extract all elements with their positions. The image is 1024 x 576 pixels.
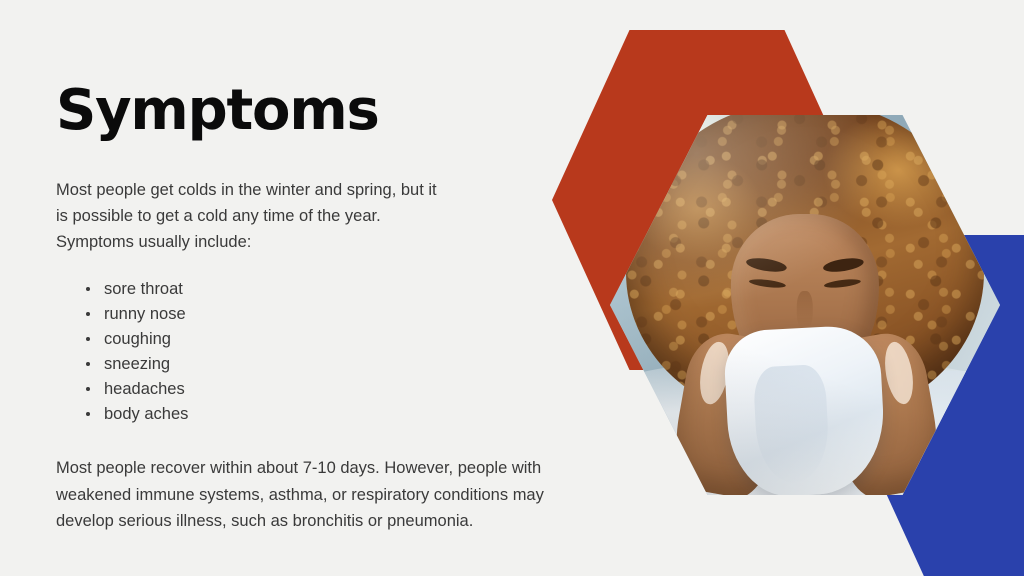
photo-tissue — [723, 324, 888, 495]
photo-eyebrow-left — [745, 256, 788, 275]
hexagon-composition — [520, 0, 1024, 576]
slide-root: Symptoms Most people get colds in the wi… — [0, 0, 1024, 576]
photo-eyebrow-right — [822, 256, 865, 275]
photo-eye-right — [824, 278, 862, 289]
photo-eye-left — [748, 278, 786, 289]
intro-paragraph: Most people get colds in the winter and … — [56, 177, 446, 255]
